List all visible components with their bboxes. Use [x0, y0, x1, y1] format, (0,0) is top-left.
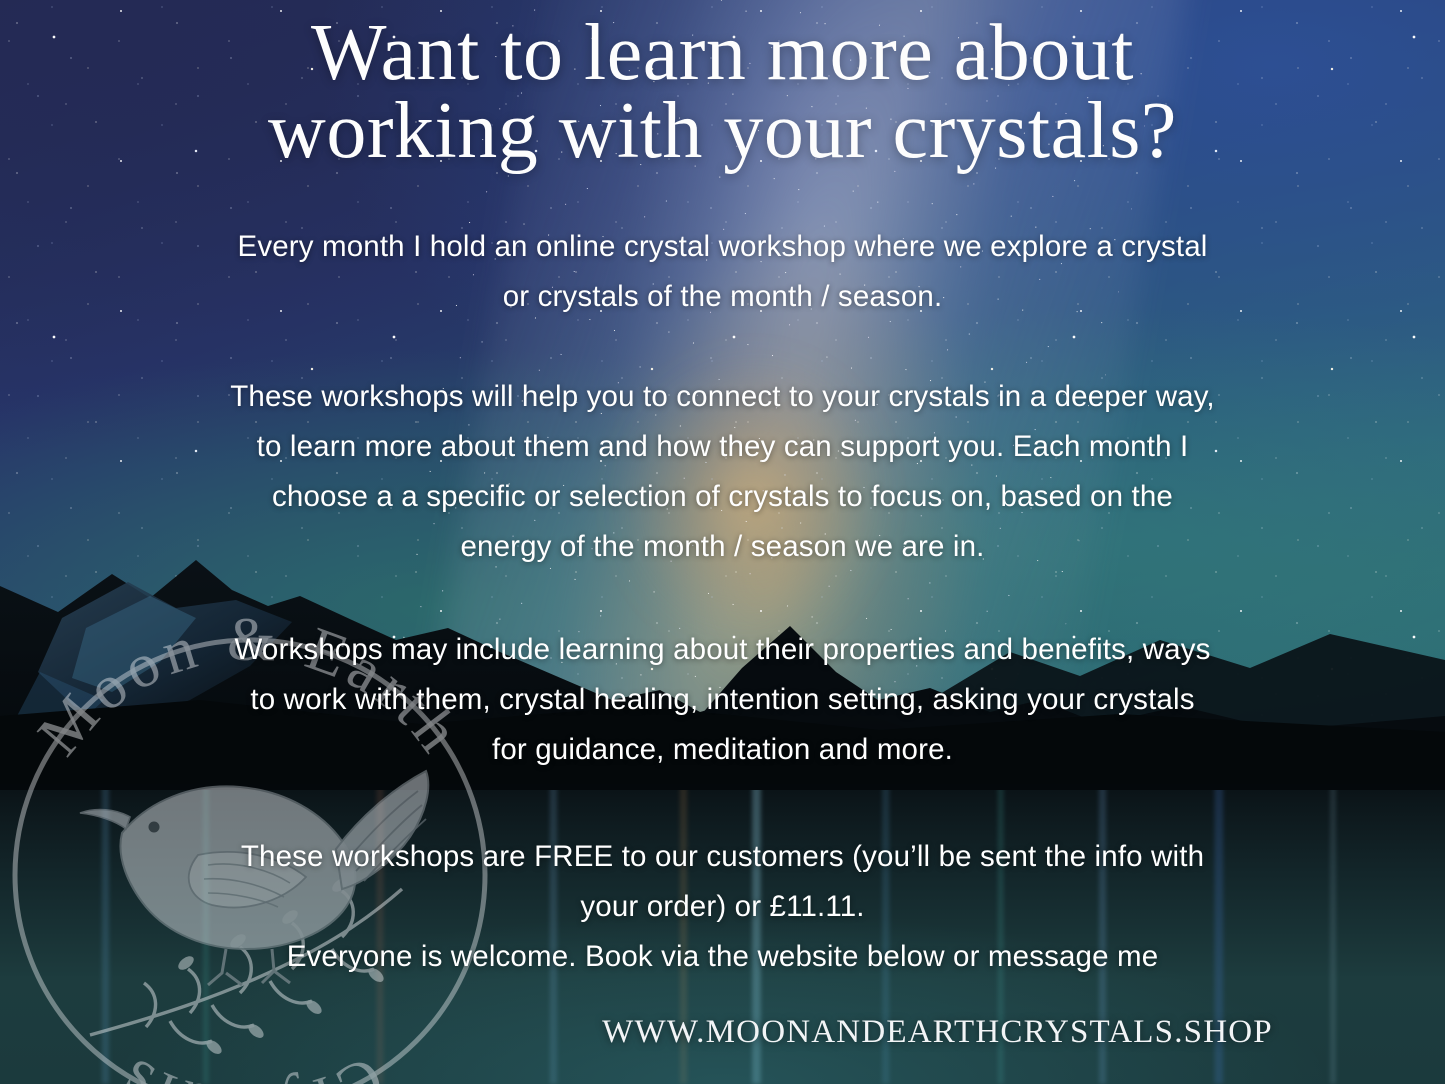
benefits-line-1: These workshops will help you to connect… [70, 372, 1375, 422]
pricing-line-3: Everyone is welcome. Book via the websit… [70, 932, 1375, 982]
poster-content: Want to learn more about working with yo… [0, 0, 1445, 1084]
benefits-line-3: choose a a specific or selection of crys… [70, 472, 1375, 522]
benefits-paragraph: These workshops will help you to connect… [70, 372, 1375, 572]
contents-paragraph: Workshops may include learning about the… [70, 625, 1375, 775]
benefits-line-2: to learn more about them and how they ca… [70, 422, 1375, 472]
page-title-line-1: Want to learn more about [0, 14, 1445, 92]
intro-line-2: or crystals of the month / season. [70, 272, 1375, 322]
intro-paragraph: Every month I hold an online crystal wor… [70, 222, 1375, 322]
pricing-line-1: These workshops are FREE to our customer… [70, 832, 1375, 882]
contents-line-3: for guidance, meditation and more. [70, 725, 1375, 775]
page-title-line-2: working with your crystals? [0, 92, 1445, 170]
benefits-line-4: energy of the month / season we are in. [70, 522, 1375, 572]
intro-line-1: Every month I hold an online crystal wor… [70, 222, 1375, 272]
page-title: Want to learn more about working with yo… [0, 14, 1445, 171]
pricing-line-2: your order) or £11.11. [70, 882, 1375, 932]
website-url[interactable]: WWW.MOONANDEARTHCRYSTALS.SHOP [0, 1014, 1445, 1051]
pricing-paragraph: These workshops are FREE to our customer… [70, 832, 1375, 982]
contents-line-1: Workshops may include learning about the… [70, 625, 1375, 675]
contents-line-2: to work with them, crystal healing, inte… [70, 675, 1375, 725]
crystal-workshop-poster: Moon & Earth Crystals Want to learn more… [0, 0, 1445, 1084]
